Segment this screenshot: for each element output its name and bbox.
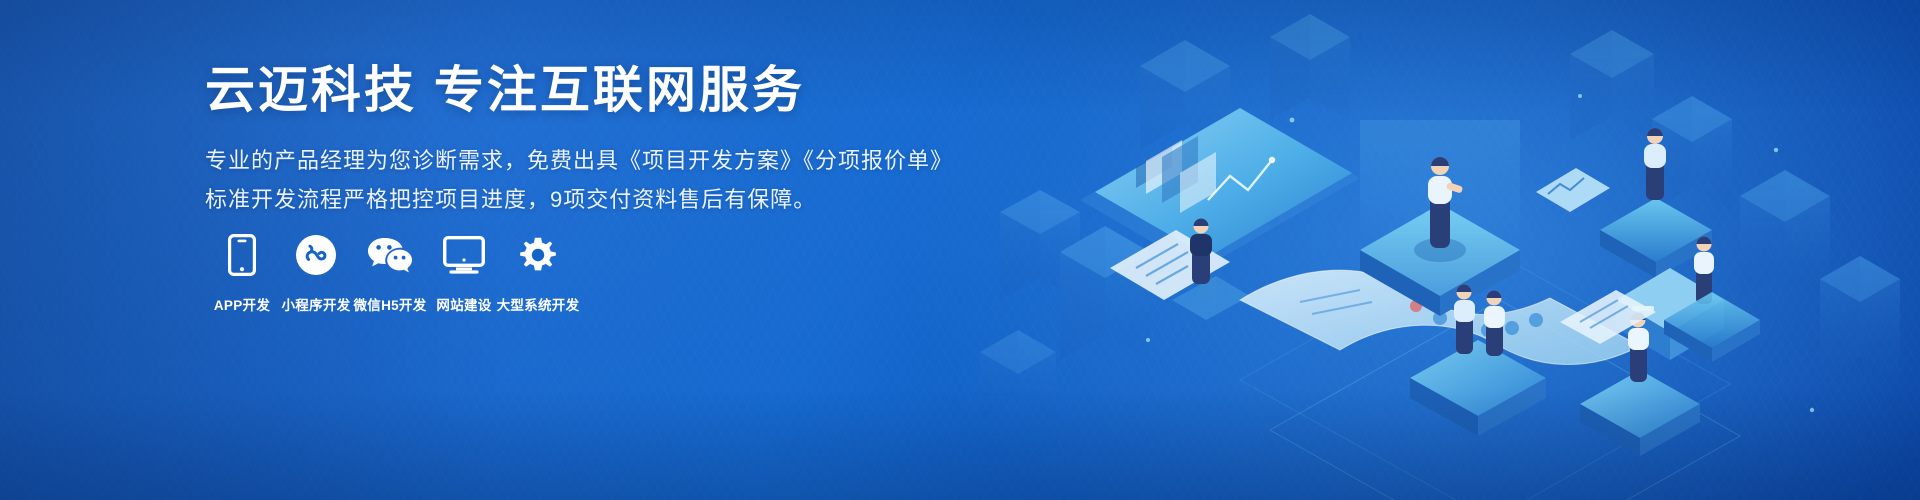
service-list: APP开发 小程序开发 [205,232,575,314]
service-item-miniprogram[interactable]: 小程序开发 [279,232,353,314]
mini-program-icon [295,232,337,278]
service-item-website[interactable]: 网站建设 [427,232,501,314]
isometric-illustration [940,0,1920,500]
gear-icon [517,232,559,278]
service-label-website: 网站建设 [436,294,491,314]
service-label-miniprogram: 小程序开发 [282,294,351,314]
service-label-system: 大型系统开发 [497,294,580,314]
subtitle-line-1: 专业的产品经理为您诊断需求，免费出具《项目开发方案》《分项报价单》 [205,142,965,181]
monitor-icon [443,232,485,278]
service-label-app: APP开发 [214,294,270,314]
floating-mini-screen [1536,168,1610,212]
hero-banner: 云迈科技 专注互联网服务 专业的产品经理为您诊断需求，免费出具《项目开发方案》《… [0,0,1920,500]
wechat-icon [367,232,413,278]
service-item-wechat[interactable]: 微信H5开发 [353,232,427,314]
banner-subtitle: 专业的产品经理为您诊断需求，免费出具《项目开发方案》《分项报价单》 标准开发流程… [205,142,965,219]
platform-pedestal-lower-right [1580,370,1700,456]
subtitle-line-2: 标准开发流程严格把控项目进度，9项交付资料售后有保障。 [205,181,965,220]
mobile-phone-icon [228,232,256,278]
banner-copy: 云迈科技 专注互联网服务 专业的产品经理为您诊断需求，免费出具《项目开发方案》《… [205,60,965,219]
service-item-system[interactable]: 大型系统开发 [501,232,575,314]
service-item-app[interactable]: APP开发 [205,232,279,314]
service-label-wechat: 微信H5开发 [353,294,426,314]
page-title: 云迈科技 专注互联网服务 [205,60,965,120]
